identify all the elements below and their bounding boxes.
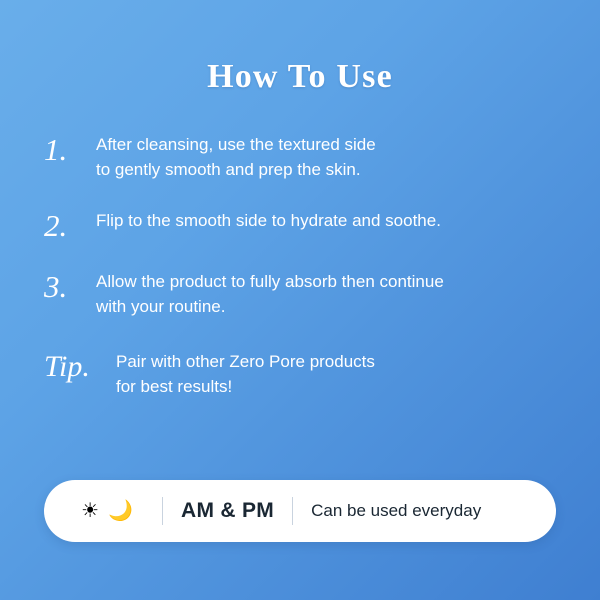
step-text-line-2: to gently smooth and prep the skin. [96, 157, 564, 182]
step-text: After cleansing, use the textured side t… [96, 128, 564, 182]
tip-text: Pair with other Zero Pore products for b… [116, 341, 564, 399]
usage-note: Can be used everyday [311, 501, 481, 521]
badge-icon-group: ☀ 🌙 [70, 501, 144, 521]
ampm-label: AM & PM [181, 499, 274, 523]
step-text-line-1: Allow the product to fully absorb then c… [96, 269, 564, 294]
list-item: 2. Flip to the smooth side to hydrate an… [44, 204, 564, 243]
how-to-use-card: How To Use 1. After cleansing, use the t… [0, 0, 600, 600]
step-marker: 1. [44, 128, 96, 167]
step-text: Flip to the smooth side to hydrate and s… [96, 204, 564, 233]
sun-icon: ☀ [81, 501, 99, 521]
usage-badge: ☀ 🌙 AM & PM Can be used everyday [44, 480, 556, 542]
step-text-line-2: with your routine. [96, 294, 564, 319]
page-title: How To Use [0, 58, 600, 96]
step-text-line-1: Flip to the smooth side to hydrate and s… [96, 208, 564, 233]
divider [162, 497, 163, 525]
tip-marker: Tip. [44, 341, 116, 383]
tip-text-line-2: for best results! [116, 374, 564, 399]
list-item: 1. After cleansing, use the textured sid… [44, 128, 564, 182]
list-item-tip: Tip. Pair with other Zero Pore products … [44, 341, 564, 399]
steps-list: 1. After cleansing, use the textured sid… [44, 128, 564, 421]
step-text: Allow the product to fully absorb then c… [96, 265, 564, 319]
step-text-line-1: After cleansing, use the textured side [96, 132, 564, 157]
divider [292, 497, 293, 525]
tip-text-line-1: Pair with other Zero Pore products [116, 349, 564, 374]
list-item: 3. Allow the product to fully absorb the… [44, 265, 564, 319]
moon-icon: 🌙 [108, 501, 133, 521]
step-marker: 2. [44, 204, 96, 243]
step-marker: 3. [44, 265, 96, 304]
